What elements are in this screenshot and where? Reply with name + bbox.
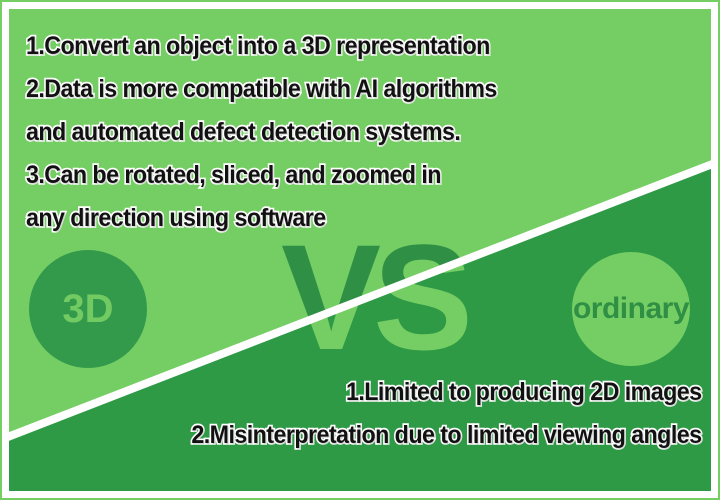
poster-canvas: 3D ordinary VS VS [9, 9, 711, 491]
advantages-line: 1.Convert an object into a 3D representa… [26, 25, 497, 68]
advantages-line: 2.Data is more compatible with AI algori… [26, 68, 497, 111]
badge-label-3d: 3D [62, 287, 113, 332]
advantages-text-block: 1.Convert an object into a 3D representa… [26, 25, 532, 240]
comparison-poster: 3D ordinary VS VS [0, 0, 720, 500]
limitations-line: 2.Misinterpretation due to limited viewi… [191, 414, 701, 457]
advantages-line: any direction using software [26, 197, 497, 240]
badge-circle-ordinary: ordinary [572, 252, 690, 366]
badge-label-ordinary: ordinary [573, 292, 689, 326]
advantages-line: 3.Can be rotated, sliced, and zoomed in [26, 154, 497, 197]
advantages-line: and automated defect detection systems. [26, 111, 497, 154]
limitations-text-block: 1.Limited to producing 2D images 2.Misin… [153, 371, 701, 457]
badge-circle-3d: 3D [29, 250, 147, 368]
limitations-line: 1.Limited to producing 2D images [191, 371, 701, 414]
